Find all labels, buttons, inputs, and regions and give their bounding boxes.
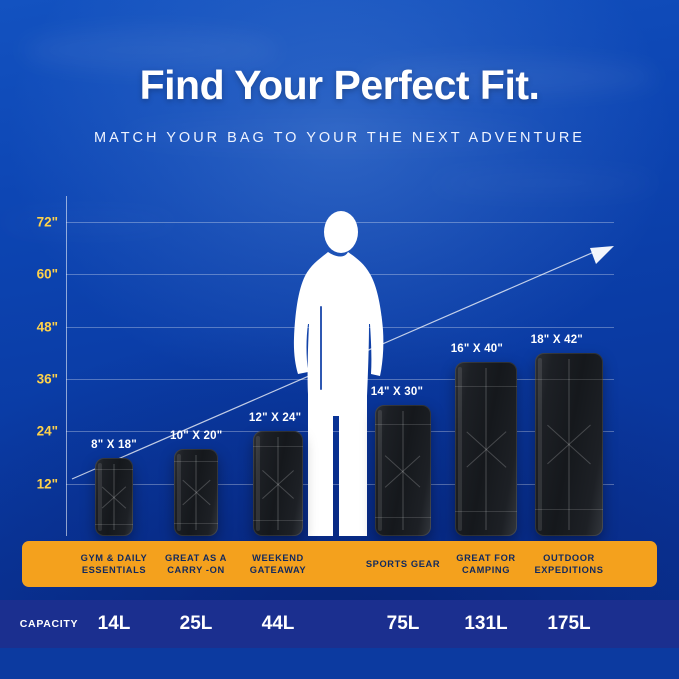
bag-bar — [455, 362, 518, 536]
category-label-strip: GYM & DAILY ESSENTIALSGREAT AS A CARRY -… — [22, 541, 657, 587]
bag-band — [253, 520, 303, 521]
bag-band — [455, 386, 518, 387]
bag-band — [253, 446, 303, 447]
bag-band — [535, 509, 604, 510]
bag-band — [375, 517, 431, 518]
bag-band — [95, 469, 133, 470]
capacity-value: 44L — [223, 600, 333, 648]
bag-highlight — [256, 436, 260, 531]
bag-highlight — [538, 358, 542, 531]
bag-bar — [535, 353, 604, 536]
bag-bar — [174, 449, 218, 536]
y-axis-tick-label: 60" — [37, 267, 58, 282]
bag-band — [455, 511, 518, 512]
bag-band — [95, 524, 133, 525]
bag-highlight — [177, 454, 181, 531]
y-axis-tick-label: 12" — [37, 476, 58, 491]
category-label: SPORTS GEAR — [356, 541, 450, 587]
bag-size-label: 8" X 18" — [91, 439, 137, 451]
bag-band — [535, 379, 604, 380]
chart-plot-area: 12"24"36"48"60"72" 8" X 18"10" X 20"12" … — [66, 196, 614, 536]
y-axis-tick-label: 72" — [37, 215, 58, 230]
page-subtitle: MATCH YOUR BAG TO YOUR THE NEXT ADVENTUR… — [0, 130, 679, 146]
y-axis-tick-label: 48" — [37, 319, 58, 334]
bag-bar — [375, 405, 431, 536]
capacity-strip: CAPACITY 14L25L44L75L131L175L — [0, 600, 679, 648]
y-axis-tick-label: 24" — [37, 424, 58, 439]
bag-band — [174, 523, 218, 524]
cloud-streak-4 — [430, 170, 660, 196]
y-axis — [66, 196, 67, 536]
category-label: WEEKEND GATEAWAY — [226, 541, 330, 587]
footer-bar — [0, 648, 679, 679]
y-axis-tick-label: 36" — [37, 372, 58, 387]
bag-bar — [253, 431, 303, 536]
bag-size-label: 10" X 20" — [170, 430, 222, 442]
infographic-root: Find Your Perfect Fit. MATCH YOUR BAG TO… — [0, 0, 679, 679]
bag-highlight — [98, 463, 102, 531]
bag-size-label: 12" X 24" — [249, 412, 301, 424]
bag-band — [174, 461, 218, 462]
bag-band — [375, 424, 431, 425]
bag-highlight — [458, 367, 462, 531]
bag-size-label: 18" X 42" — [531, 334, 583, 346]
category-label: OUTDOOR EXPEDITIONS — [517, 541, 621, 587]
bag-highlight — [378, 410, 382, 531]
bag-size-label: 14" X 30" — [371, 386, 423, 398]
bag-bar — [95, 458, 133, 536]
bag-size-label: 16" X 40" — [451, 343, 503, 355]
page-title: Find Your Perfect Fit. — [0, 62, 679, 109]
capacity-value: 175L — [514, 600, 624, 648]
